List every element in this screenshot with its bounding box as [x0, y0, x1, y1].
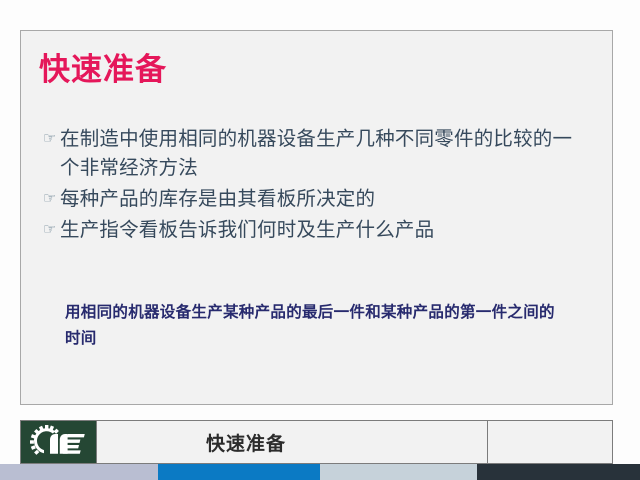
slide-frame: 快速准备 ☞ 在制造中使用相同的机器设备生产几种不同零件的比较的一个非常经济方法…: [20, 30, 613, 405]
bullet-text: 在制造中使用相同的机器设备生产几种不同零件的比较的一个非常经济方法: [60, 124, 591, 182]
list-item: ☞ 在制造中使用相同的机器设备生产几种不同零件的比较的一个非常经济方法: [43, 124, 591, 182]
list-item: ☞ 每种产品的库存是由其看板所决定的: [43, 184, 591, 213]
footer-bar: 快速准备: [20, 420, 613, 464]
page-title: 快速准备: [39, 53, 167, 87]
list-item: ☞ 生产指令看板告诉我们何时及生产什么产品: [43, 215, 591, 244]
accent-bar: [0, 464, 640, 480]
footer-logo-cell: [21, 421, 97, 463]
bullet-text: 每种产品的库存是由其看板所决定的: [60, 184, 591, 213]
gear-logo-icon: [30, 425, 88, 459]
footer-title: 快速准备: [206, 429, 286, 456]
pointing-hand-bullet-icon: ☞: [43, 124, 60, 153]
bullet-list: ☞ 在制造中使用相同的机器设备生产几种不同零件的比较的一个非常经济方法 ☞ 每种…: [43, 124, 591, 246]
bullet-text: 生产指令看板告诉我们何时及生产什么产品: [60, 215, 591, 244]
accent-segment-dark: [477, 464, 640, 480]
pointing-hand-bullet-icon: ☞: [43, 184, 60, 213]
footer-title-cell: 快速准备: [97, 421, 488, 463]
slide-root: 快速准备 ☞ 在制造中使用相同的机器设备生产几种不同零件的比较的一个非常经济方法…: [0, 0, 640, 480]
accent-segment-lavender: [0, 464, 158, 480]
accent-segment-pale: [320, 464, 477, 480]
accent-segment-blue: [158, 464, 320, 480]
pointing-hand-bullet-icon: ☞: [43, 215, 60, 244]
footer-right-cell: [488, 421, 612, 463]
definition-text: 用相同的机器设备生产某种产品的最后一件和某种产品的第一件之间的时间: [65, 299, 565, 351]
